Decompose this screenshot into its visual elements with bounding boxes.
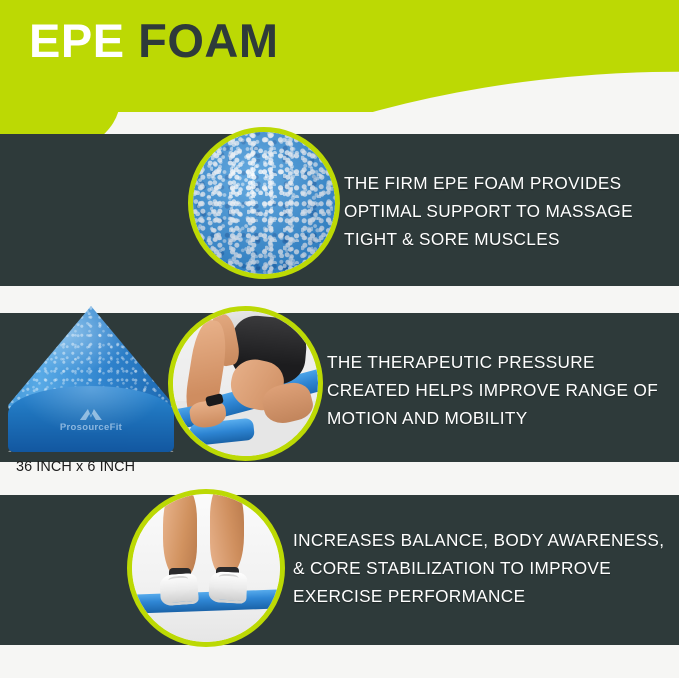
athlete-left-sneaker: [159, 573, 200, 607]
foam-roller-end-face: [8, 386, 174, 452]
scene-background: [132, 494, 280, 642]
foam-roller-shape: ProsourceFit: [8, 306, 174, 452]
sneaker-laces: [168, 575, 189, 586]
epe-foam-infographic: EPE FOAM THE FIRM EPE FOAM PROVIDES OPTI…: [0, 0, 679, 678]
foam-roller-balance-board: [132, 589, 280, 614]
sneaker-laces: [218, 574, 238, 585]
foam-texture-shading: [193, 132, 335, 274]
foam-texture-photo: [193, 132, 335, 274]
page-title: EPE FOAM: [29, 17, 278, 64]
athlete-right-sneaker: [208, 571, 248, 604]
feature-image-balance-core: [127, 489, 285, 647]
kneeling-athlete-photo: [173, 311, 318, 456]
feature-image-therapeutic-pressure: [168, 306, 323, 461]
scene-background: [173, 311, 318, 456]
athlete-right-calf: [210, 494, 244, 574]
page-title-epe: EPE: [29, 14, 125, 67]
product-image-foam-roller: ProsourceFit: [8, 306, 174, 452]
athlete-left-calf: [163, 494, 197, 577]
feature-image-foam-texture: [188, 127, 340, 279]
balancing-legs-photo: [132, 494, 280, 642]
page-title-foam: FOAM: [125, 14, 279, 67]
feature-text-1: THE FIRM EPE FOAM PROVIDES OPTIMAL SUPPO…: [344, 170, 664, 254]
feature-text-2: THE THERAPEUTIC PRESSURE CREATED HELPS I…: [327, 349, 672, 433]
product-dimensions-caption: 36 INCH x 6 INCH: [16, 459, 135, 475]
feature-text-3: INCREASES BALANCE, BODY AWARENESS, & COR…: [293, 527, 671, 611]
